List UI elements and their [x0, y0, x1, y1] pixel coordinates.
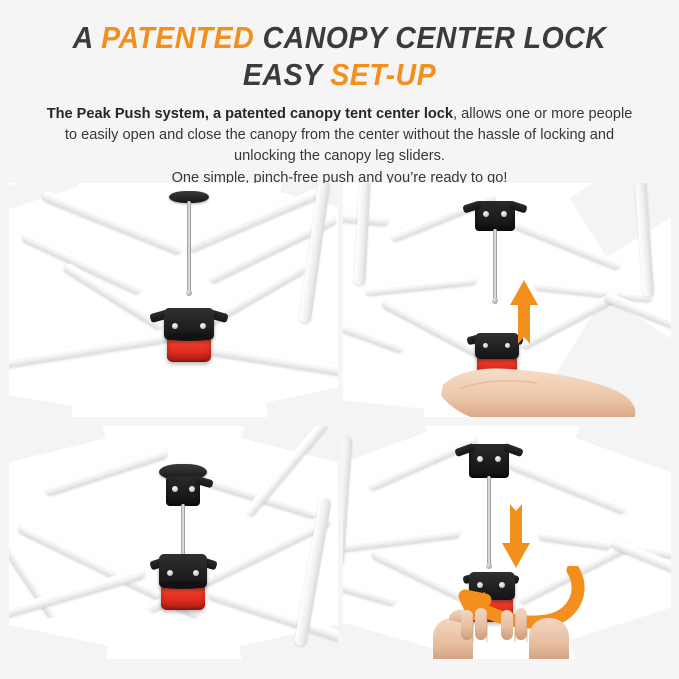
panel-3-push-rod	[181, 504, 185, 556]
page-title-line-1: A PATENTED CANOPY CENTER LOCK	[40, 20, 639, 57]
open-palm-hand	[439, 355, 639, 417]
panel-3-peak-rivet-right	[189, 486, 195, 492]
panel-1-tube-mid-left	[21, 231, 143, 295]
panel-4-photo	[343, 426, 672, 660]
panel-1-hub-rivet-left	[172, 323, 178, 329]
panel-1-hub-red-rim	[167, 333, 211, 341]
panel-2-tube-left-vert	[354, 183, 371, 286]
gallery-panel-4[interactable]	[343, 426, 672, 660]
panel-2-corner-bl	[343, 397, 425, 417]
panel-2-peak-rivet-left	[483, 211, 489, 217]
panel-4-peak-rivet-right	[495, 456, 501, 462]
panel-2-peak-rivet-right	[501, 211, 507, 217]
panel-1-photo	[9, 183, 338, 417]
panel-4-corner-bl	[343, 615, 434, 659]
description-strong-lead: The Peak Push system, a patented canopy …	[47, 106, 453, 122]
description-paragraph: The Peak Push system, a patented canopy …	[14, 104, 665, 189]
title-text-easy: EASY	[243, 57, 330, 92]
title-text-a: A	[73, 20, 101, 55]
panel-1-push-rod	[187, 201, 191, 293]
panel-3-hub-red-rim	[161, 581, 205, 589]
panel-3-tube-top-left	[43, 446, 168, 496]
panel-2-tube-right-vert	[634, 183, 653, 297]
panel-2-tube-mid-left	[364, 275, 476, 296]
panel-3-photo	[9, 426, 338, 660]
panel-1-tube-arm-left	[9, 331, 172, 370]
gallery-panel-1[interactable]	[9, 183, 338, 417]
panel-3-hub-rivet-right	[193, 570, 199, 576]
title-highlight-setup: SET-UP	[330, 57, 436, 92]
push-up-arrow-icon	[507, 278, 541, 354]
panel-1-corner-br	[265, 384, 338, 417]
bottom-spacer	[0, 663, 679, 679]
push-down-arrow-icon	[499, 494, 533, 570]
panel-1-corner-bl	[9, 392, 73, 417]
title-text-canopy-center-lock: CANOPY CENTER LOCK	[254, 20, 606, 55]
panel-2-tube-arm-left	[343, 311, 405, 353]
header-section: A PATENTED CANOPY CENTER LOCK EASY SET-U…	[0, 0, 679, 189]
gallery-panel-3[interactable]	[9, 426, 338, 660]
panel-4-push-rod	[487, 476, 491, 566]
panel-3-corner-bl	[9, 621, 108, 659]
panel-3-corner-tl	[9, 426, 106, 465]
panel-2-tube-mid-right	[534, 281, 652, 302]
panel-2-push-rod	[493, 229, 497, 301]
panel-3-hub-rivet-left	[167, 570, 173, 576]
panel-1-tube-upper-left	[41, 189, 184, 255]
product-image-gallery	[9, 183, 671, 659]
panel-1-hub-rivet-right	[200, 323, 206, 329]
panel-2-photo	[343, 183, 672, 417]
panel-4-tube-upper-left	[366, 434, 478, 491]
panel-2-tube-upper-right	[509, 217, 622, 270]
page-title-line-2: EASY SET-UP	[40, 57, 639, 94]
panel-2-hub-rivet-left	[483, 343, 488, 348]
panel-3-peak-rivet-left	[172, 486, 178, 492]
two-hand-grip	[431, 602, 571, 660]
panel-1-tube-arm-right	[190, 341, 337, 379]
panel-3-tube-bottom-right	[207, 588, 337, 651]
title-highlight-patented: PATENTED	[101, 20, 254, 55]
panel-4-tube-mid-left	[343, 527, 461, 553]
panel-4-peak-rivet-left	[477, 456, 483, 462]
gallery-panel-2[interactable]	[343, 183, 672, 417]
panel-4-tube-left-arm	[343, 572, 397, 606]
panel-4-corner-tr	[575, 426, 671, 479]
